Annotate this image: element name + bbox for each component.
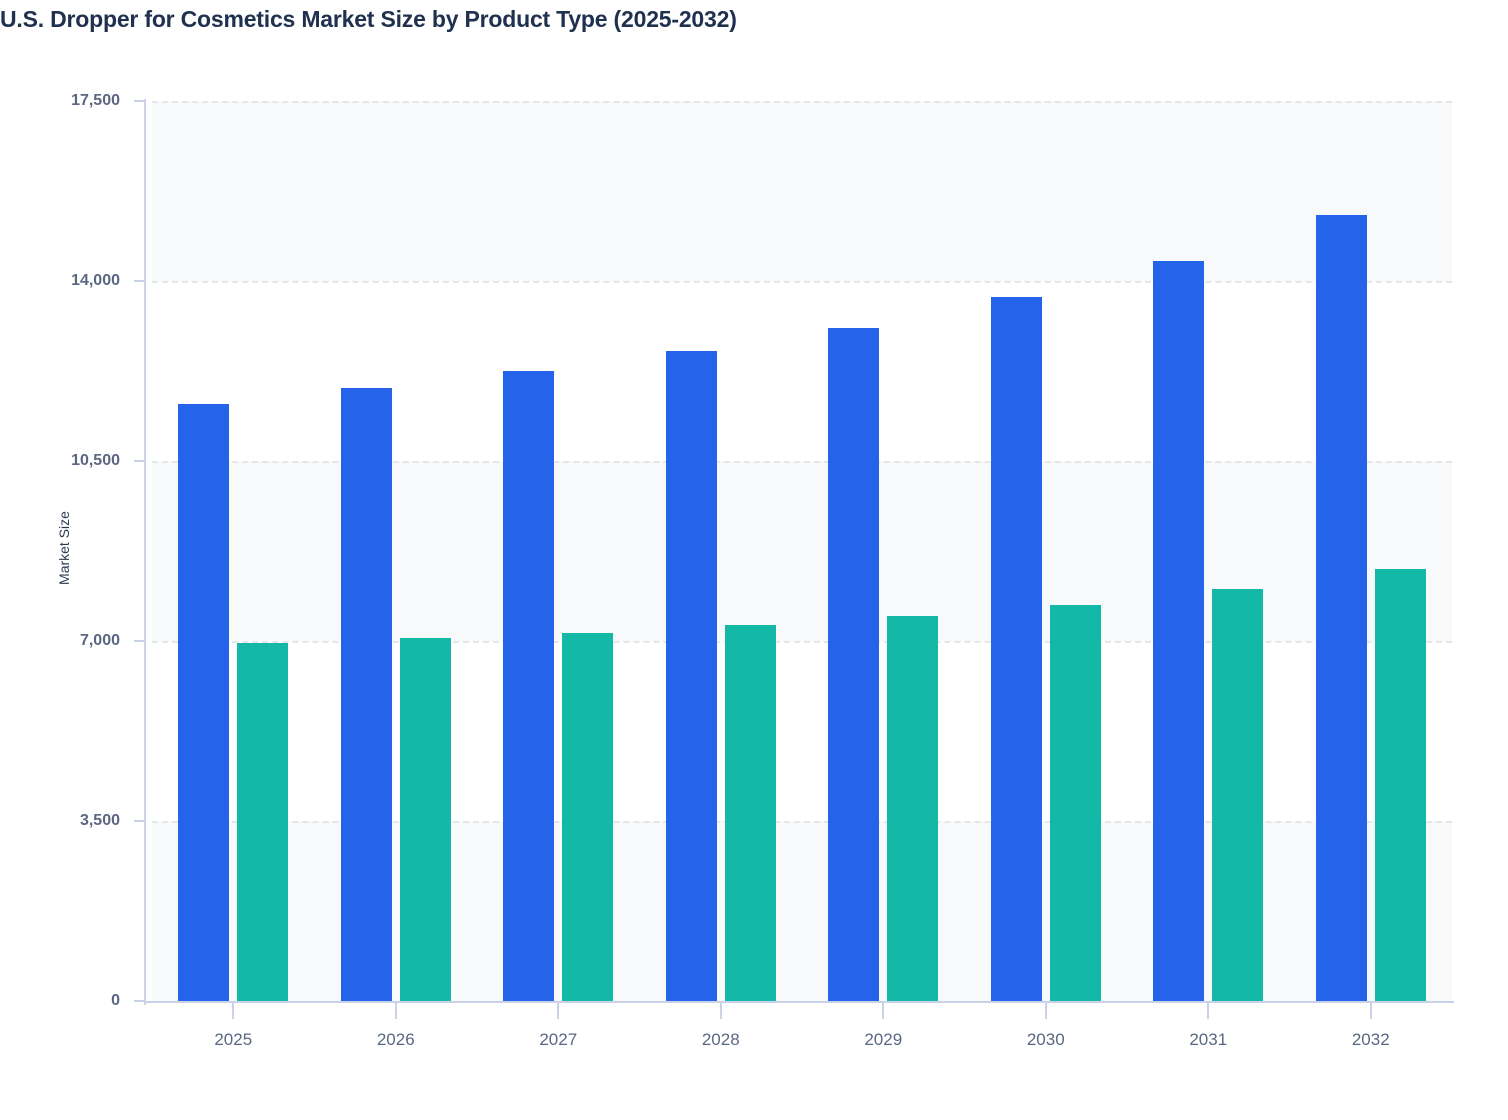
y-tick-mark [134, 280, 145, 282]
y-tick-mark [134, 1000, 145, 1002]
x-axis-line [144, 1001, 1454, 1003]
bar[interactable] [178, 404, 229, 1001]
x-tick-mark [1207, 1003, 1209, 1019]
x-tick-mark [1045, 1003, 1047, 1019]
bar[interactable] [1375, 569, 1426, 1001]
bar[interactable] [503, 371, 554, 1001]
bar[interactable] [1050, 605, 1101, 1001]
x-tick-label: 2027 [478, 1030, 638, 1050]
x-tick-label: 2028 [641, 1030, 801, 1050]
bar[interactable] [666, 351, 717, 1001]
y-tick-label: 3,500 [0, 812, 120, 830]
bar[interactable] [991, 297, 1042, 1001]
x-tick-mark [720, 1003, 722, 1019]
y-tick-label: 14,000 [0, 272, 120, 290]
x-tick-mark [232, 1003, 234, 1019]
gridline [152, 281, 1452, 283]
x-tick-label: 2032 [1291, 1030, 1451, 1050]
bar[interactable] [562, 633, 613, 1001]
y-tick-label: 0 [0, 992, 120, 1010]
x-tick-label: 2025 [153, 1030, 313, 1050]
page-title: U.S. Dropper for Cosmetics Market Size b… [0, 6, 1460, 33]
bar[interactable] [341, 388, 392, 1001]
bar[interactable] [237, 643, 288, 1001]
y-axis-line [144, 99, 146, 1005]
bar[interactable] [1316, 215, 1367, 1001]
bar[interactable] [1212, 589, 1263, 1001]
x-tick-mark [1370, 1003, 1372, 1019]
y-tick-mark [134, 100, 145, 102]
x-tick-label: 2029 [803, 1030, 963, 1050]
x-tick-mark [882, 1003, 884, 1019]
plot-band [152, 101, 1452, 281]
x-tick-mark [395, 1003, 397, 1019]
y-tick-mark [134, 820, 145, 822]
x-tick-label: 2026 [316, 1030, 476, 1050]
y-axis-title: Market Size [56, 468, 72, 628]
bar[interactable] [725, 625, 776, 1001]
chart-page: U.S. Dropper for Cosmetics Market Size b… [0, 0, 1508, 1120]
bar[interactable] [400, 638, 451, 1001]
y-tick-label: 7,000 [0, 632, 120, 650]
x-tick-label: 2031 [1128, 1030, 1288, 1050]
gridline [152, 101, 1452, 103]
y-tick-label: 10,500 [0, 452, 120, 470]
bar[interactable] [887, 616, 938, 1001]
bar[interactable] [1153, 261, 1204, 1001]
x-tick-mark [557, 1003, 559, 1019]
bar[interactable] [828, 328, 879, 1001]
x-tick-label: 2030 [966, 1030, 1126, 1050]
y-tick-mark [134, 460, 145, 462]
y-tick-label: 17,500 [0, 92, 120, 110]
y-tick-mark [134, 640, 145, 642]
